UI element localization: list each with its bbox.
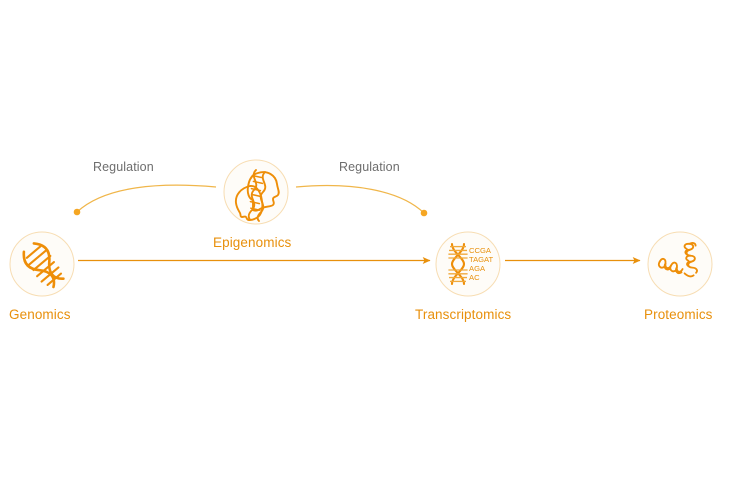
diagram-graphics: CCGA TAGAT AGA AC — [0, 0, 736, 494]
node-label-epigenomics[interactable]: Epigenomics — [213, 236, 291, 250]
curve-end-dot-right — [421, 210, 428, 217]
rna-icon-line-4: AC — [469, 273, 480, 282]
edge-label-regulation-right: Regulation — [339, 161, 400, 174]
rna-icon-line-3: AGA — [469, 264, 486, 273]
curve-genomics-to-epigenomics — [74, 185, 216, 215]
rna-icon-line-2: TAGAT — [469, 255, 494, 264]
node-circle-transcriptomics[interactable] — [436, 232, 500, 296]
node-circle-proteomics[interactable] — [648, 232, 712, 296]
diagram-canvas: CCGA TAGAT AGA AC Genomics Epi — [0, 0, 736, 494]
rna-icon-line-1: CCGA — [469, 246, 492, 255]
node-label-proteomics[interactable]: Proteomics — [644, 308, 713, 322]
edge-label-regulation-left: Regulation — [93, 161, 154, 174]
curve-start-dot-left — [74, 209, 81, 216]
node-label-transcriptomics[interactable]: Transcriptomics — [415, 308, 511, 322]
curve-epigenomics-to-transcriptomics — [296, 186, 427, 217]
node-label-genomics[interactable]: Genomics — [9, 308, 71, 322]
